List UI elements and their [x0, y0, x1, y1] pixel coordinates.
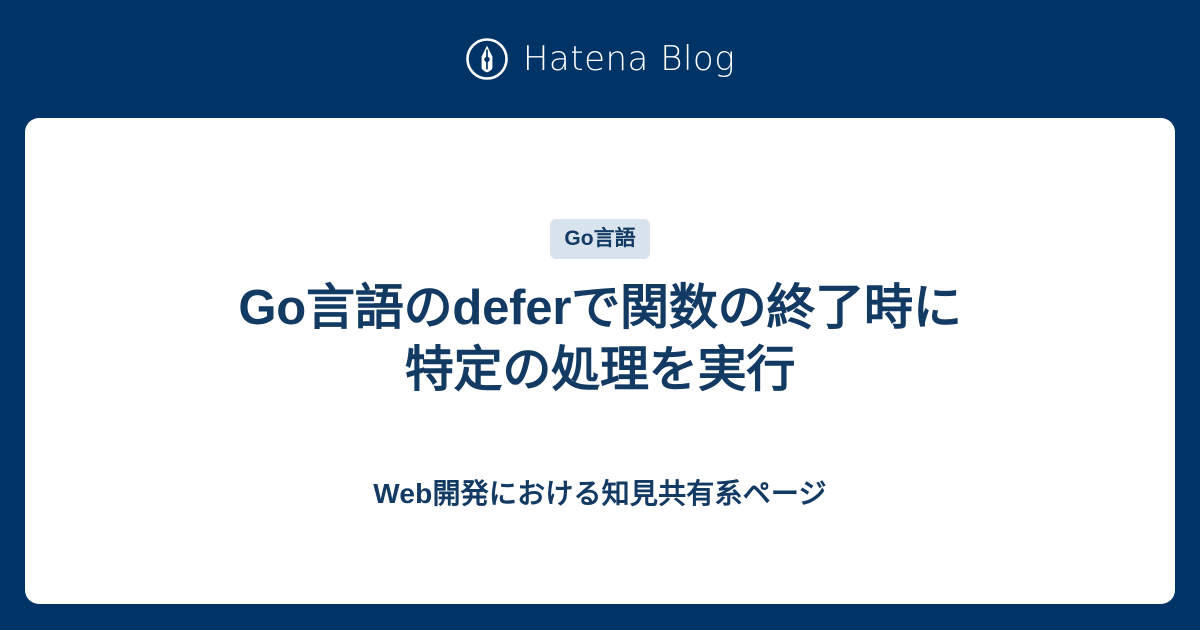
blog-subtitle: Web開発における知見共有系ページ — [373, 477, 826, 511]
entry-card-content: Go言語 Go言語のdeferで関数の終了時に 特定の処理を実行 Web開発にお… — [25, 118, 1175, 511]
entry-title-line-2: 特定の処理を実行 — [238, 340, 961, 402]
category-badge[interactable]: Go言語 — [550, 219, 649, 259]
entry-title-line-1: Go言語のdeferで関数の終了時に — [238, 278, 961, 340]
brand-name: Hatena Blog — [523, 42, 735, 76]
entry-card: Go言語 Go言語のdeferで関数の終了時に 特定の処理を実行 Web開発にお… — [25, 118, 1175, 604]
open-graph-card: Hatena Blog Go言語 Go言語のdeferで関数の終了時に 特定の処… — [0, 0, 1200, 630]
brand-header: Hatena Blog — [0, 0, 1200, 118]
entry-title: Go言語のdeferで関数の終了時に 特定の処理を実行 — [238, 278, 961, 401]
category-badge-row: Go言語 — [550, 219, 649, 259]
hatena-pen-nib-circle-icon — [465, 37, 509, 81]
